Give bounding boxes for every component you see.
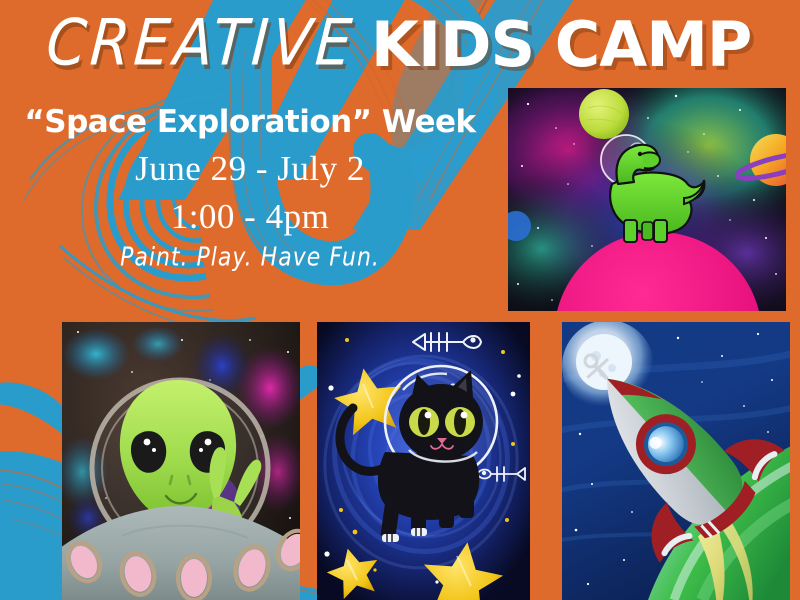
event-theme: “Space Exploration” Week: [0, 104, 500, 140]
poster-headline: CREATIVE KIDS CAMP: [44, 8, 784, 81]
headline-creative: CREATIVE: [44, 6, 358, 80]
event-tagline: Paint. Play. Have Fun.: [0, 243, 500, 273]
nebula-cyan: [62, 328, 130, 380]
space-cat-painting: [317, 322, 530, 600]
event-dates: June 29 - July 2: [0, 149, 500, 189]
event-time: 1:00 - 4pm: [0, 197, 500, 237]
event-details: “Space Exploration” Week June 29 - July …: [0, 104, 500, 268]
poster-canvas: CREATIVE KIDS CAMP “Space Exploration” W…: [0, 0, 800, 600]
space-dinosaur-painting: [508, 88, 786, 311]
alien-ufo-painting: [62, 322, 300, 600]
rocket-ship-painting: [562, 322, 790, 600]
headline-kids-camp: KIDS CAMP: [371, 8, 751, 81]
blue-brush-wedge-mid-left: [0, 382, 62, 434]
